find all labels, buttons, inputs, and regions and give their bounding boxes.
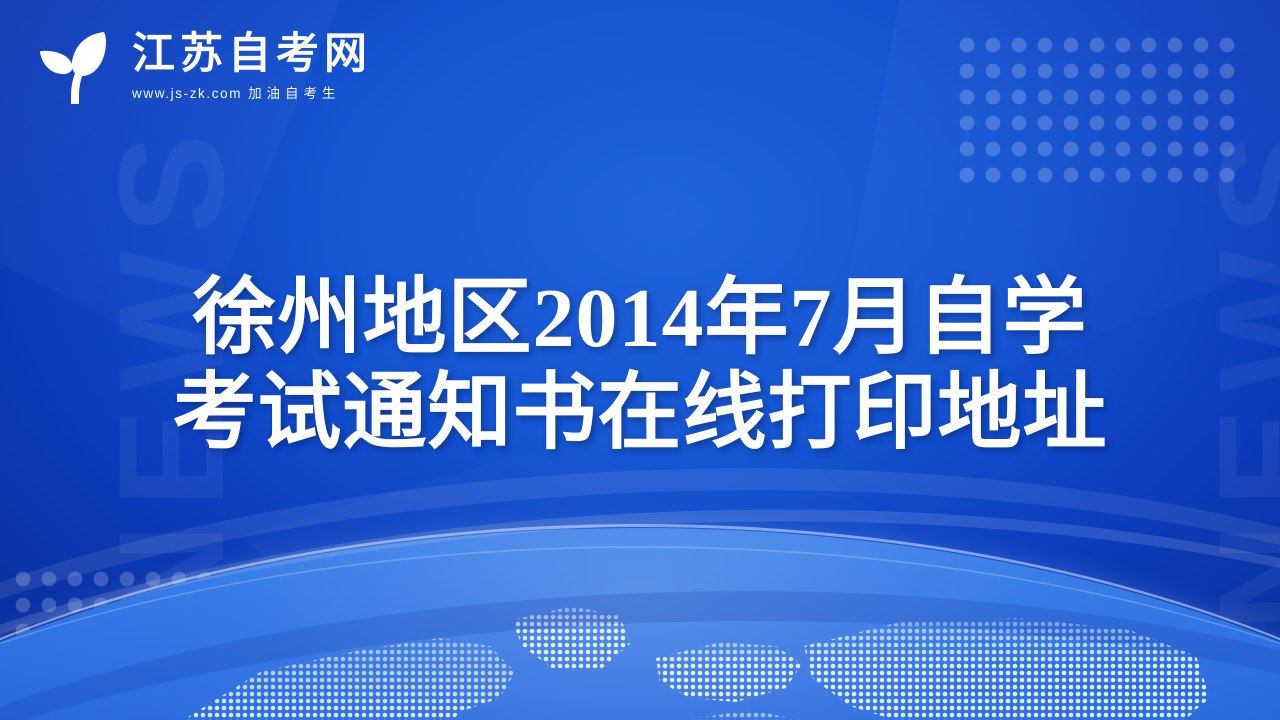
dot-grid-icon-top-right	[954, 32, 1244, 188]
logo-subtitle: www.js-zk.com加油自考生	[132, 82, 372, 102]
page-title: 徐州地区2014年7月自学 考试通知书在线打印地址	[0, 272, 1280, 462]
logo-text-block: 江苏自考网 www.js-zk.com加油自考生	[132, 32, 372, 101]
logo-title: 江苏自考网	[132, 32, 372, 77]
site-logo[interactable]: 江苏自考网 www.js-zk.com加油自考生	[34, 26, 372, 108]
globe-icon	[0, 490, 1280, 720]
background-facet-top-right	[820, 0, 1280, 440]
headline-line-1: 徐州地区2014年7月自学	[0, 272, 1280, 367]
logo-website: www.js-zk.com	[132, 86, 242, 101]
news-banner: NEWS NEWS	[0, 0, 1280, 720]
sprout-icon	[34, 26, 118, 108]
headline-line-2: 考试通知书在线打印地址	[0, 367, 1280, 462]
logo-slogan: 加油自考生	[248, 86, 341, 101]
